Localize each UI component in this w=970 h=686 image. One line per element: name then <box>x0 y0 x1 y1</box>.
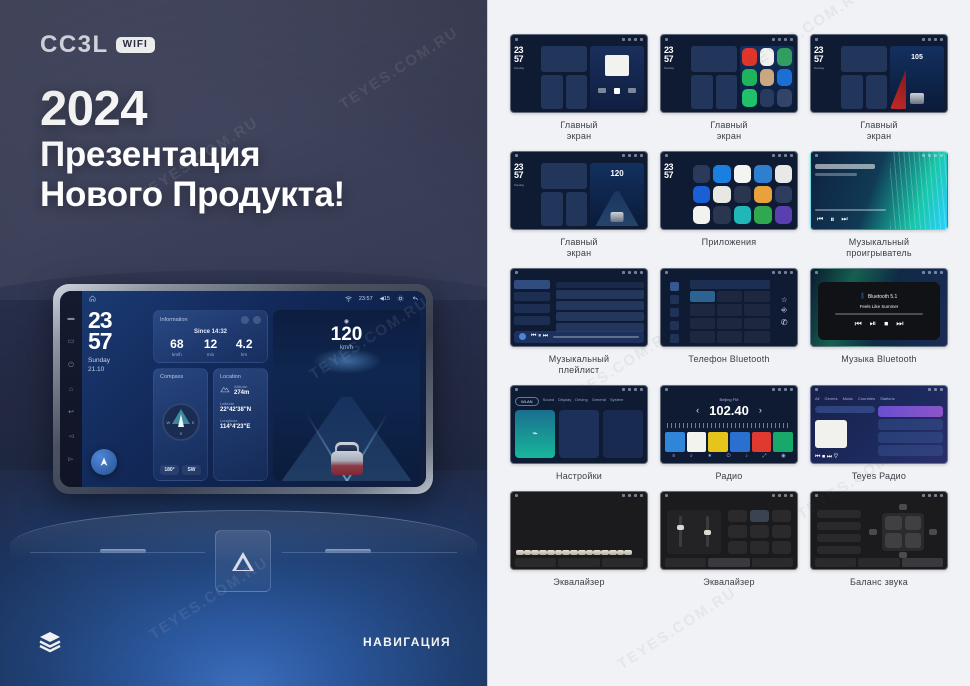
mini-now-playing-bar[interactable]: ⏮ ⏸ ⏭ <box>514 331 644 343</box>
speed-unit: km/h <box>273 345 420 351</box>
balance-pad[interactable] <box>869 508 937 556</box>
mini-progress-bar[interactable] <box>815 209 886 211</box>
screenshot-playlist[interactable]: ⏮ ⏸ ⏭ <box>510 268 648 347</box>
back-arrow-icon[interactable]: ↩ <box>67 408 76 417</box>
headline-line-1: Презентация <box>40 135 345 175</box>
widgets-column: Information Since 14:32 <box>153 310 268 481</box>
mini-status-bar <box>661 152 797 160</box>
metric-distance-unit: km <box>227 352 261 357</box>
equalizer-tabs[interactable] <box>815 558 943 567</box>
compass-direction: SW <box>182 465 201 475</box>
clock-minutes: 57 <box>88 331 148 352</box>
next-station-icon[interactable]: › <box>759 405 762 415</box>
gallery-item[interactable]: ᛒ Bluetooth 5.1 Feels Like Summer ⏮⏯⏹⏭ М… <box>810 268 948 376</box>
hazard-triangle-icon <box>232 552 254 571</box>
gallery-item[interactable]: WLAN SoundDisplay DrivingGeneralSystem ⌁ <box>510 385 648 482</box>
left-hero-panel: CC3L WIFI 2024 Презентация Нового Продук… <box>0 0 487 686</box>
metric-speed-unit: km/h <box>160 352 194 357</box>
gallery-row: WLAN SoundDisplay DrivingGeneralSystem ⌁ <box>504 385 954 482</box>
rail-button-menu[interactable]: ▬ <box>67 314 76 323</box>
bt-version-label: Bluetooth 5.1 <box>868 294 897 300</box>
information-since: Since 14:32 <box>160 329 261 335</box>
vent-knob-right[interactable] <box>325 549 371 553</box>
mini-status-bar <box>511 152 647 160</box>
hardware-button-rail[interactable]: ▬ ▭ ⏻ ⌂ ↩ ◅ ▻ <box>60 291 82 487</box>
hero-headline: 2024 Презентация Нового Продукта! <box>40 85 345 215</box>
clock-date: 21.10 <box>88 366 148 375</box>
mini-call-actions[interactable]: ☆ ⎆ ✆ <box>775 280 795 343</box>
information-card[interactable]: Information Since 14:32 <box>153 310 268 363</box>
watermark: TEYES.COM.RU <box>615 584 740 674</box>
drive-view-widget[interactable]: ◉ 120 km/h <box>273 310 420 481</box>
wifi-icon: ⌁ <box>532 428 537 439</box>
mini-status-bar <box>511 269 647 277</box>
rail-button-mode[interactable]: ▭ <box>67 337 76 346</box>
compass-dial-wrap: W E S <box>160 382 201 462</box>
bt-progress-bar[interactable] <box>835 313 923 315</box>
balance-right-button[interactable] <box>929 529 937 535</box>
mini-status-bar <box>811 386 947 394</box>
product-logo: CC3L WIFI <box>40 33 155 57</box>
head-unit-bezel: ▬ ▭ ⏻ ⌂ ↩ ◅ ▻ <box>53 284 433 494</box>
eq-preset-grid[interactable] <box>728 510 791 554</box>
status-home-group[interactable] <box>89 295 96 302</box>
bluetooth-icon: ᛒ <box>861 293 865 300</box>
equalizer-sliders[interactable] <box>517 512 631 555</box>
clock-widget[interactable]: 23 57 Sunday 21.10 <box>88 310 148 481</box>
mini-transport-controls[interactable]: ⏮⏸⏭ <box>817 215 848 225</box>
hazard-light-button[interactable] <box>215 530 271 592</box>
layers-icon[interactable] <box>38 631 62 653</box>
bt-transport-controls[interactable]: ⏮⏯⏹⏭ <box>855 319 904 329</box>
mini-settings-cards[interactable]: ⌁ <box>515 410 643 458</box>
gallery-caption: Настройки <box>556 471 602 482</box>
gallery-item[interactable]: ⏮⏸⏭ Музыкальныйпроигрыватель <box>810 151 948 259</box>
altitude-label: Altitude <box>234 384 249 389</box>
mini-widgets <box>841 46 887 109</box>
mini-app-drawer <box>691 163 794 226</box>
gallery-item[interactable]: Эквалайзер <box>510 491 648 588</box>
screenshot-bluetooth-phone[interactable]: ☆ ⎆ ✆ <box>660 268 798 347</box>
mini-phone-nav[interactable] <box>664 280 685 343</box>
compass-card[interactable]: Compass W E S <box>153 368 208 481</box>
screenshot-sound-balance[interactable] <box>810 491 948 570</box>
prev-station-icon[interactable]: ‹ <box>696 405 699 415</box>
gallery-row: 2357Sunday 120 Главныйэкран <box>504 151 954 259</box>
screenshot-apps[interactable]: 2357 <box>660 151 798 230</box>
expand-icon[interactable] <box>253 316 261 324</box>
logo-model-text: CC3L <box>40 33 109 57</box>
back-arrow-icon[interactable] <box>411 295 419 302</box>
longitude-value: 114°4'23"E <box>220 424 261 430</box>
mini-content: ☆ ⎆ ✆ <box>661 277 797 346</box>
gallery-item[interactable]: 2357Sunday 105 Главныйэкран <box>810 34 948 142</box>
screenshot-equalizer-bars[interactable] <box>510 491 648 570</box>
metric-duration-unit: min <box>194 352 228 357</box>
mini-status-bar <box>661 35 797 43</box>
mini-bt-card: ᛒ Bluetooth 5.1 Feels Like Summer ⏮⏯⏹⏭ <box>818 282 940 340</box>
compass-readout: 180° SW <box>160 465 201 475</box>
information-metrics: 68 km/h 12 min 4.2 <box>160 338 261 357</box>
mini-status-bar <box>811 492 947 500</box>
information-title: Information <box>160 317 188 323</box>
mini-content: 2357Sunday 120 <box>511 160 647 229</box>
latitude-label: Latitude <box>220 401 261 406</box>
mini-clock: 2357Sunday <box>514 163 538 226</box>
location-title: Location <box>220 374 261 380</box>
gear-icon[interactable] <box>397 295 404 302</box>
mini-widgets <box>541 46 587 109</box>
gallery-caption: Главныйэкран <box>860 120 897 142</box>
radio-frequency: 102.40 <box>709 403 749 418</box>
mini-status-bar <box>511 492 647 500</box>
home-icon[interactable]: ⌂ <box>67 385 76 394</box>
gallery-row: Эквалайзер <box>504 491 954 588</box>
mountain-icon <box>220 384 230 394</box>
mini-dialer[interactable] <box>690 280 770 343</box>
gallery-caption: Музыкальныйплейлист <box>549 354 609 376</box>
compass-east: E <box>192 420 195 425</box>
equalizer-tabs[interactable] <box>515 558 643 567</box>
compass-south: S <box>179 431 182 436</box>
teyes-radio-left[interactable]: ⏮ ⏹ ⏭ ♡ <box>815 406 875 461</box>
metric-distance: 4.2 km <box>227 338 261 357</box>
navigation-fab-button[interactable] <box>91 449 117 475</box>
headline-year: 2024 <box>40 85 345 135</box>
mini-content: 2357Sunday 105 <box>811 43 947 112</box>
mini-content: 2357Sunday <box>661 43 797 112</box>
gallery-item[interactable]: 2357Sunday 120 Главныйэкран <box>510 151 648 259</box>
location-altitude-row: Altitude 274m <box>220 384 261 396</box>
screenshot-gallery-panel: 2357Sunday Гл <box>487 0 970 686</box>
radio-tuner[interactable]: ‹ 102.40 › <box>661 403 797 418</box>
car-dashboard-illustration: ▬ ▭ ⏻ ⌂ ↩ ◅ ▻ <box>0 262 487 686</box>
screenshot-home-drive[interactable]: 2357Sunday 105 <box>810 34 948 113</box>
car-body <box>331 451 363 475</box>
mini-status-bar <box>511 35 647 43</box>
home-icon[interactable] <box>89 295 96 302</box>
head-unit-ui: 23:57 ◀15 <box>82 291 426 487</box>
radio-bottom-bar[interactable]: ≡⌕★⏻♪⤢◉ <box>665 452 793 460</box>
screenshot-music-player[interactable]: ⏮⏸⏭ <box>810 151 948 230</box>
information-card-actions[interactable] <box>241 316 261 324</box>
mini-keypad[interactable] <box>690 291 770 343</box>
metric-speed: 68 km/h <box>160 338 194 357</box>
gallery-item[interactable]: Баланс звука <box>810 491 948 588</box>
mini-track-info <box>815 164 886 176</box>
clock-weekday: Sunday <box>88 357 148 366</box>
screenshot-radio[interactable]: Beijing FM ‹ 102.40 › <box>660 385 798 464</box>
compass-title: Compass <box>160 374 201 380</box>
metric-distance-value: 4.2 <box>227 338 261 350</box>
mini-status-bar <box>661 269 797 277</box>
gallery-caption: Главныйэкран <box>560 120 597 142</box>
balance-presets[interactable] <box>817 510 861 554</box>
compass-heading: 180° <box>160 465 179 475</box>
gallery-caption: Эквалайзер <box>553 577 604 588</box>
gallery-caption: Эквалайзер <box>703 577 754 588</box>
screenshot-equalizer-simple[interactable] <box>660 491 798 570</box>
mini-drive-panel: 105 <box>890 46 944 109</box>
teyes-radio-list[interactable] <box>878 406 943 456</box>
status-bar: 23:57 ◀15 <box>82 291 426 306</box>
footer-nav-label: НАВИГАЦИЯ <box>363 635 451 649</box>
status-volume: ◀15 <box>380 296 390 302</box>
lead-car-graphic <box>328 437 366 475</box>
status-right-group: 23:57 ◀15 <box>345 295 419 302</box>
presentation-page: CC3L WIFI 2024 Презентация Нового Продук… <box>0 0 970 686</box>
teyes-radio-tabs[interactable]: AllGenresMusicCountriesStations <box>815 396 943 401</box>
eq-fader-panel[interactable] <box>667 510 721 554</box>
wifi-icon <box>345 296 352 302</box>
location-latitude-row: Latitude 22°42'38"N <box>220 401 261 413</box>
head-unit-content: 23 57 Sunday 21.10 <box>82 306 426 487</box>
mini-status-bar <box>811 269 947 277</box>
mini-status-bar <box>811 35 947 43</box>
volume-up-icon[interactable]: ▻ <box>67 455 76 464</box>
gallery-caption: Приложения <box>702 237 757 248</box>
mini-content: 2357 <box>661 160 797 229</box>
equalizer-tabs[interactable] <box>665 558 793 567</box>
radio-band-label: Beijing FM <box>661 397 797 402</box>
mini-widgets <box>541 163 587 226</box>
gallery-item[interactable]: 2357Sunday Гл <box>510 34 648 142</box>
location-longitude-row: Longitude 114°4'23"E <box>220 418 261 430</box>
mini-status-bar <box>661 386 797 394</box>
gallery-caption: Главныйэкран <box>560 237 597 259</box>
gallery-item[interactable]: ☆ ⎆ ✆ Телефон Bluetooth <box>660 268 798 376</box>
volume-down-icon[interactable]: ◅ <box>67 432 76 441</box>
bluetooth-icon-row: ᛒ Bluetooth 5.1 <box>861 293 898 300</box>
mini-app-shortcuts <box>740 46 794 109</box>
headline-line-2: Нового Продукта! <box>40 175 345 215</box>
screenshot-teyes-radio[interactable]: AllGenresMusicCountriesStations ⏮ ⏹ ⏭ ♡ <box>810 385 948 464</box>
navigation-arrow-icon <box>98 456 110 468</box>
altitude-value: 274m <box>234 390 249 396</box>
compass-needle <box>178 414 184 427</box>
lower-widgets: Compass W E S <box>153 368 268 481</box>
screenshot-home-apps[interactable]: 2357Sunday <box>660 34 798 113</box>
balance-left-button[interactable] <box>869 529 877 535</box>
screenshot-settings[interactable]: WLAN SoundDisplay DrivingGeneralSystem ⌁ <box>510 385 648 464</box>
gallery-row: ⏮ ⏸ ⏭ Музыкальныйплейлист <box>504 268 954 376</box>
radio-presets[interactable] <box>665 432 793 452</box>
mini-visualizer <box>890 152 947 229</box>
mini-media-panel <box>590 46 644 109</box>
gallery-item[interactable]: ⏮ ⏸ ⏭ Музыкальныйплейлист <box>510 268 648 376</box>
gallery-caption: Главныйэкран <box>710 120 747 142</box>
gallery-caption: Teyes Радио <box>852 471 906 482</box>
head-unit-screen[interactable]: ▬ ▭ ⏻ ⌂ ↩ ◅ ▻ <box>60 291 426 487</box>
gallery-row: 2357Sunday Гл <box>504 34 954 142</box>
screenshot-home-nav[interactable]: 2357Sunday 120 <box>510 151 648 230</box>
logo-wifi-badge: WIFI <box>116 37 155 53</box>
gallery-item[interactable]: Beijing FM ‹ 102.40 › <box>660 385 798 482</box>
vent-knob-left[interactable] <box>100 549 146 553</box>
gallery-item[interactable]: AllGenresMusicCountriesStations ⏮ ⏹ ⏭ ♡ <box>810 385 948 482</box>
mini-clock: 2357 <box>664 163 688 226</box>
mini-drive-panel: 120 <box>590 163 644 226</box>
metric-duration-value: 12 <box>194 338 228 350</box>
gallery-caption: Радио <box>716 471 743 482</box>
balance-up-button[interactable] <box>899 504 907 510</box>
metric-speed-value: 68 <box>160 338 194 350</box>
thumbnail-grid: 2357Sunday Гл <box>504 34 954 588</box>
bt-track-title: Feels Like Summer <box>860 304 899 309</box>
status-time: 23:57 <box>359 296 373 302</box>
gallery-item[interactable]: 2357Sunday Главныйэкран <box>660 34 798 142</box>
gallery-item[interactable]: 2357 Приложения <box>660 151 798 259</box>
power-icon[interactable]: ⏻ <box>67 361 76 370</box>
gallery-item[interactable]: Эквалайзер <box>660 491 798 588</box>
speed-readout: ◉ 120 km/h <box>273 318 420 351</box>
mini-content: 2357Sunday <box>511 43 647 112</box>
screenshot-home-media[interactable]: 2357Sunday <box>510 34 648 113</box>
information-card-header: Information <box>160 316 261 324</box>
screenshot-bluetooth-music[interactable]: ᛒ Bluetooth 5.1 Feels Like Summer ⏮⏯⏹⏭ <box>810 268 948 347</box>
mini-status-bar <box>511 386 647 394</box>
metric-duration: 12 min <box>194 338 228 357</box>
location-card[interactable]: Location Altitude 274m <box>213 368 268 481</box>
refresh-icon[interactable] <box>241 316 249 324</box>
latitude-value: 22°42'38"N <box>220 407 261 413</box>
longitude-label: Longitude <box>220 418 261 423</box>
mini-widgets <box>691 46 737 109</box>
compass-dial: W E S <box>162 403 200 441</box>
mini-settings-tabs[interactable]: WLAN SoundDisplay DrivingGeneralSystem <box>515 397 643 406</box>
mini-clock: 2357Sunday <box>814 46 838 109</box>
mini-clock: 2357Sunday <box>514 46 538 109</box>
radio-dial-scale[interactable] <box>667 423 791 428</box>
mini-clock: 2357Sunday <box>664 46 688 109</box>
gallery-caption: Музыка Bluetooth <box>841 354 917 365</box>
gallery-caption: Телефон Bluetooth <box>688 354 769 365</box>
gallery-caption: Музыкальныйпроигрыватель <box>846 237 911 259</box>
speed-value: 120 <box>273 325 420 345</box>
compass-west: W <box>167 420 171 425</box>
mini-status-bar <box>661 492 797 500</box>
gallery-caption: Баланс звука <box>850 577 908 588</box>
road-horizon-glow <box>312 348 382 374</box>
